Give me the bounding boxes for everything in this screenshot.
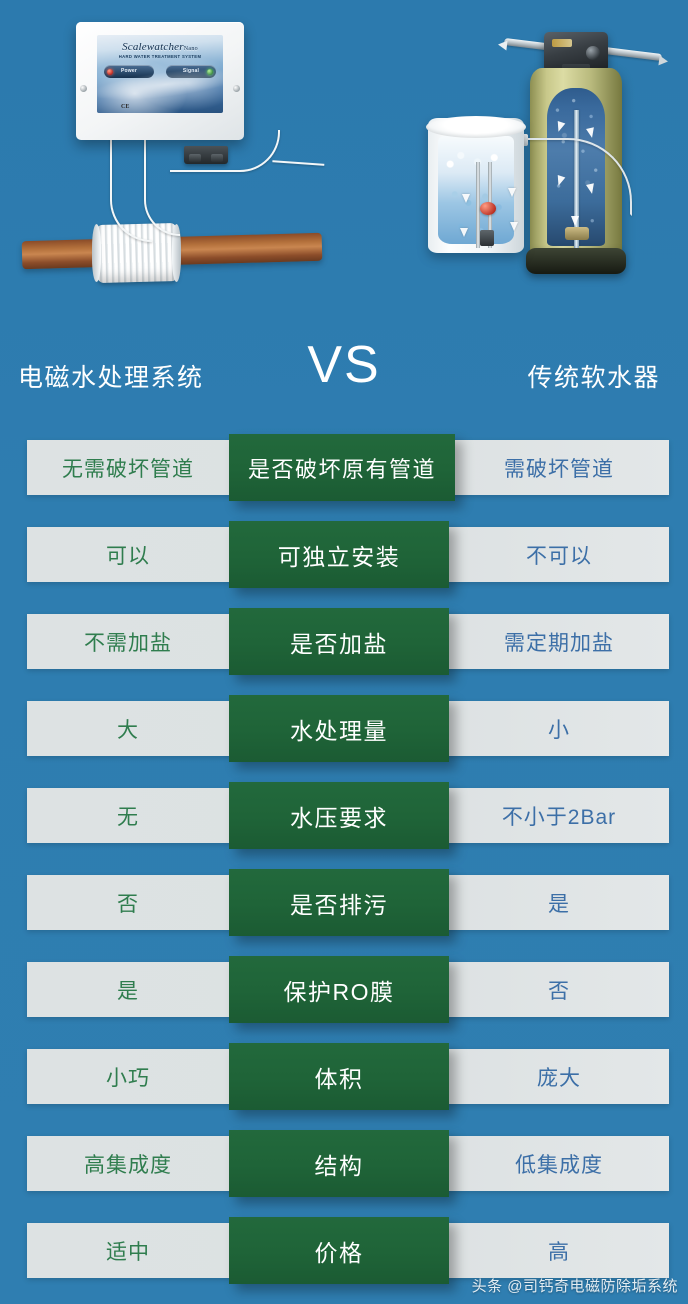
brand-name: ScalewatcherNano: [97, 41, 223, 53]
outlet-arrow-icon: [658, 55, 668, 66]
power-label: Power: [104, 68, 154, 74]
power-cord-tail-icon: [272, 160, 325, 176]
resin-tank-base: [526, 248, 626, 274]
signal-led-icon: [207, 69, 213, 75]
table-row: 大水处理量小: [0, 695, 688, 756]
led-indicator-row: Power Signal: [103, 65, 217, 78]
model-name: Nano: [184, 46, 198, 52]
comparison-table: 无需破坏管道是否破坏原有管道需破坏管道可以可独立安装不可以不需加盐是否加盐需定期…: [0, 434, 688, 1304]
row-right-value: 是: [449, 875, 669, 930]
row-left-value: 无需破坏管道: [27, 440, 229, 495]
row-feature-label: 水处理量: [229, 695, 449, 762]
flow-arrow-icon: [460, 228, 468, 237]
flow-arrow-icon: [510, 222, 518, 231]
controller-enclosure: ScalewatcherNano HARD WATER TREATMENT SY…: [76, 22, 244, 140]
comparison-infographic: ScalewatcherNano HARD WATER TREATMENT SY…: [0, 0, 688, 1304]
valve-knob-icon: [586, 46, 600, 60]
distributor-base-icon: [565, 227, 589, 240]
row-left-value: 否: [27, 875, 229, 930]
electromagnetic-water-conditioner-photo: ScalewatcherNano HARD WATER TREATMENT SY…: [22, 12, 322, 302]
flow-arrow-icon: [571, 216, 579, 226]
row-left-value: 可以: [27, 527, 229, 582]
row-left-value: 是: [27, 962, 229, 1017]
row-right-value: 不可以: [449, 527, 669, 582]
table-row: 适中价格高: [0, 1217, 688, 1278]
row-right-value: 需定期加盐: [449, 614, 669, 669]
row-right-value: 小: [449, 701, 669, 756]
row-right-value: 庞大: [449, 1049, 669, 1104]
brine-tank-cutaway: [438, 136, 514, 244]
power-indicator: Power: [104, 65, 154, 78]
cable-connector-icon: [184, 146, 228, 164]
row-feature-label: 价格: [229, 1217, 449, 1284]
row-feature-label: 水压要求: [229, 782, 449, 849]
row-left-value: 大: [27, 701, 229, 756]
controller-front-label: ScalewatcherNano HARD WATER TREATMENT SY…: [97, 35, 223, 113]
row-feature-label: 是否排污: [229, 869, 449, 936]
conventional-water-softener-cutaway-photo: [412, 20, 680, 285]
product-photos-region: ScalewatcherNano HARD WATER TREATMENT SY…: [0, 0, 688, 310]
row-left-value: 无: [27, 788, 229, 843]
ce-mark-icon: CE: [121, 104, 129, 110]
table-row: 高集成度结构低集成度: [0, 1130, 688, 1191]
watermark: 头条 @司钙奇电磁防除垢系统: [472, 1275, 678, 1296]
signal-label: Signal: [166, 68, 216, 74]
table-row: 是保护RO膜否: [0, 956, 688, 1017]
screw-left-icon: [80, 85, 87, 92]
row-right-value: 高: [449, 1223, 669, 1278]
right-column-title: 传统软水器: [527, 358, 660, 394]
table-row: 不需加盐是否加盐需定期加盐: [0, 608, 688, 669]
row-feature-label: 结构: [229, 1130, 449, 1197]
row-right-value: 需破坏管道: [449, 440, 669, 495]
table-row: 可以可独立安装不可以: [0, 521, 688, 582]
flow-arrow-icon: [508, 188, 516, 197]
row-feature-label: 是否加盐: [229, 608, 449, 675]
brine-tank: [428, 118, 524, 253]
table-row: 小巧体积庞大: [0, 1043, 688, 1104]
row-feature-label: 可独立安装: [229, 521, 449, 588]
brine-valve-icon: [480, 230, 494, 246]
row-feature-label: 保护RO膜: [229, 956, 449, 1023]
screw-right-icon: [233, 85, 240, 92]
row-left-value: 适中: [27, 1223, 229, 1278]
coil-end-left-icon: [92, 224, 101, 282]
product-tagline: HARD WATER TREATMENT SYSTEM: [97, 54, 223, 59]
row-feature-label: 体积: [229, 1043, 449, 1110]
brine-float-icon: [480, 202, 496, 215]
brine-tank-lid-icon: [426, 116, 526, 138]
comparison-header: 电磁水处理系统 VS 传统软水器: [0, 318, 688, 418]
row-left-value: 不需加盐: [27, 614, 229, 669]
signal-indicator: Signal: [166, 65, 216, 78]
row-right-value: 低集成度: [449, 1136, 669, 1191]
table-row: 无水压要求不小于2Bar: [0, 782, 688, 843]
table-row: 否是否排污是: [0, 869, 688, 930]
row-feature-label: 是否破坏原有管道: [229, 434, 455, 501]
row-left-value: 小巧: [27, 1049, 229, 1104]
row-left-value: 高集成度: [27, 1136, 229, 1191]
flow-arrow-icon: [462, 194, 470, 203]
row-right-value: 不小于2Bar: [449, 788, 669, 843]
table-row: 无需破坏管道是否破坏原有管道需破坏管道: [0, 434, 688, 495]
row-right-value: 否: [449, 962, 669, 1017]
inlet-arrow-icon: [497, 39, 507, 50]
